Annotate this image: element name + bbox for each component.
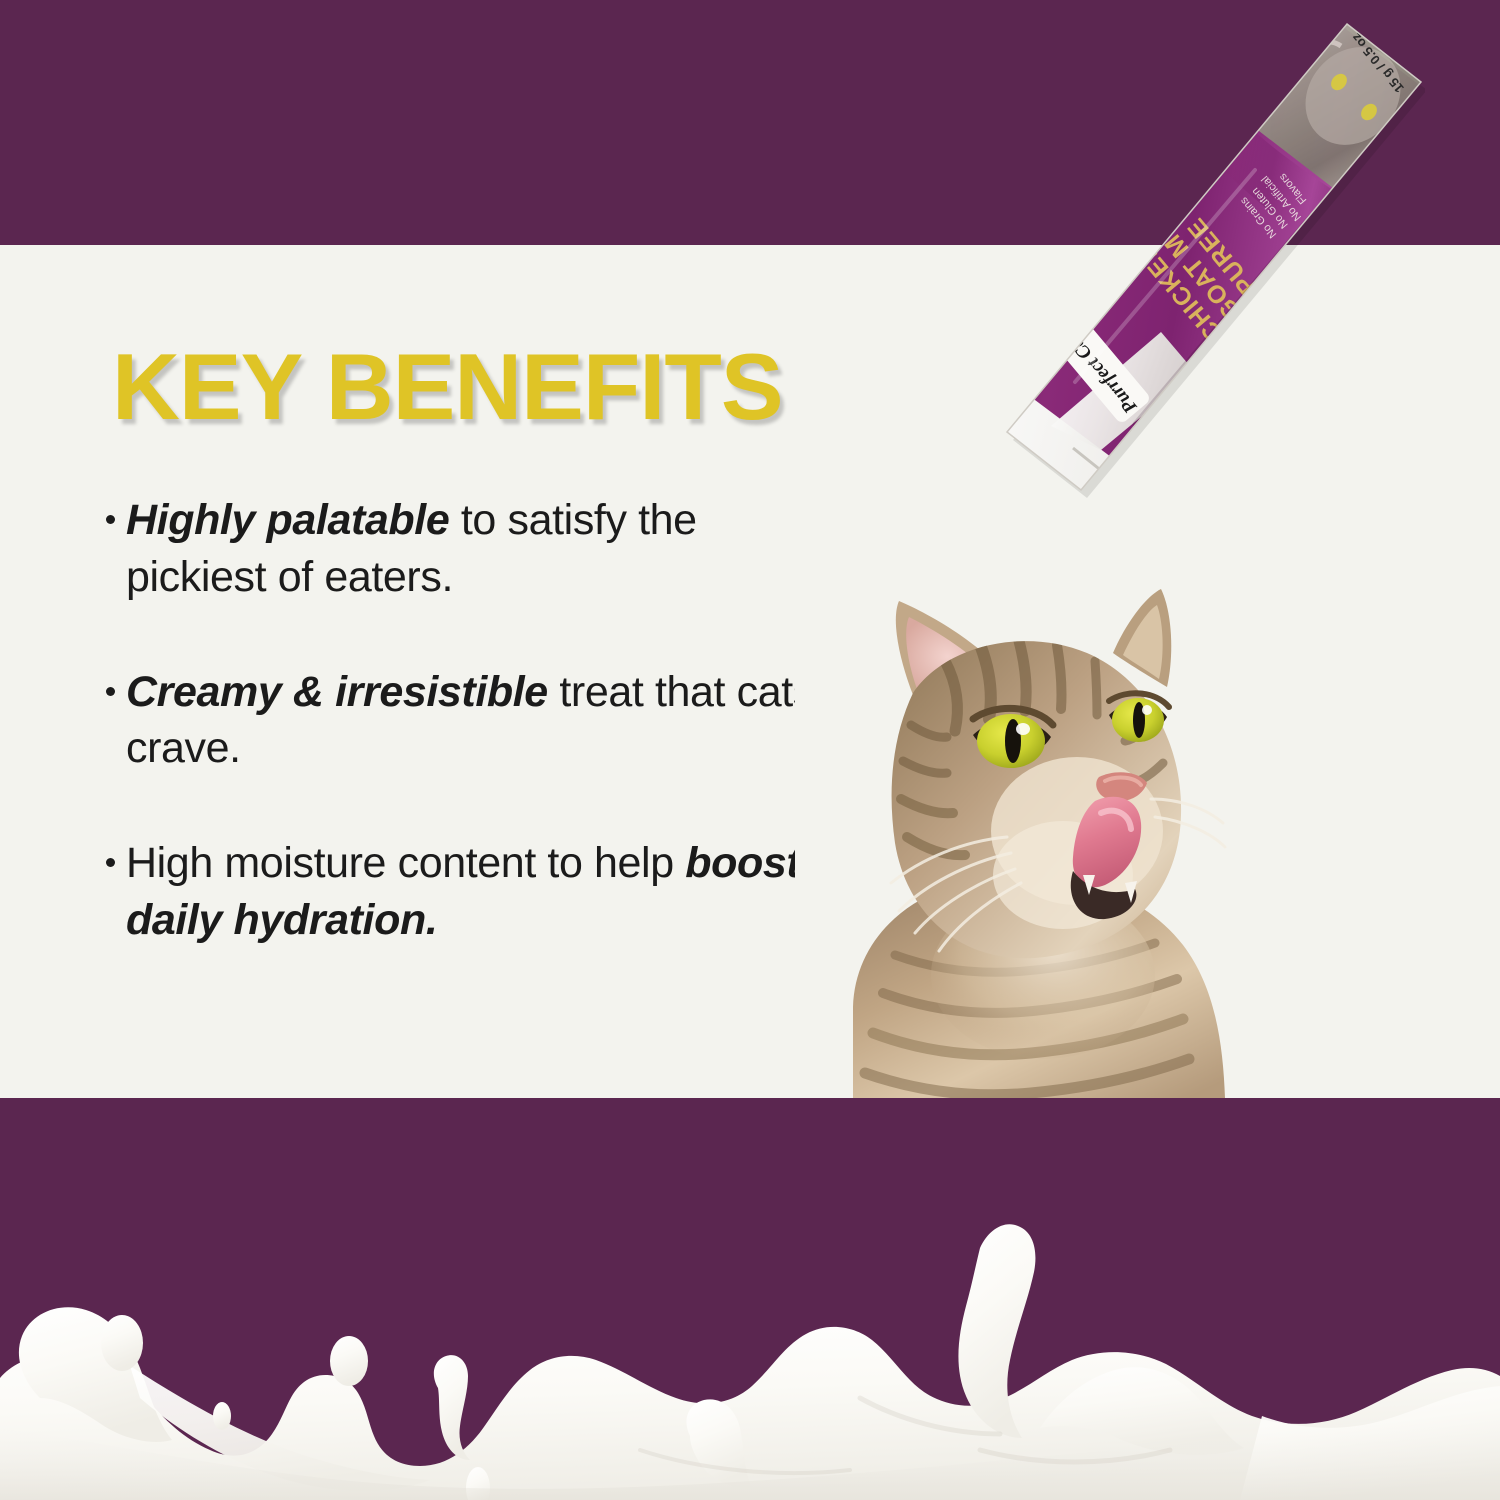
list-item: Creamy & irresistible treat that cats cr… [100,664,820,778]
cat-photo [795,575,1235,1098]
bottom-purple-band [0,1098,1500,1500]
milk-droplet [101,1315,143,1371]
top-purple-band [0,0,1500,245]
benefit-lead: High moisture content to help [126,839,685,887]
list-item: Highly palatable to satisfy the pickiest… [100,492,820,606]
benefit-lead: Creamy & irresistible [126,668,548,716]
page-title: KEY BENEFITS [112,340,783,434]
bullet-dot-icon [106,515,115,524]
milk-droplet [330,1336,368,1386]
bullet-dot-icon [106,858,115,867]
benefit-lead: Highly palatable [126,496,449,544]
marketing-poster: KEY BENEFITS Highly palatable to satisfy… [0,0,1500,1500]
milk-droplet [213,1402,231,1430]
bullet-dot-icon [106,687,115,696]
milk-splash-graphic [0,1098,1500,1500]
list-item: High moisture content to help boost dail… [100,835,820,949]
benefits-list: Highly palatable to satisfy the pickiest… [100,492,820,949]
